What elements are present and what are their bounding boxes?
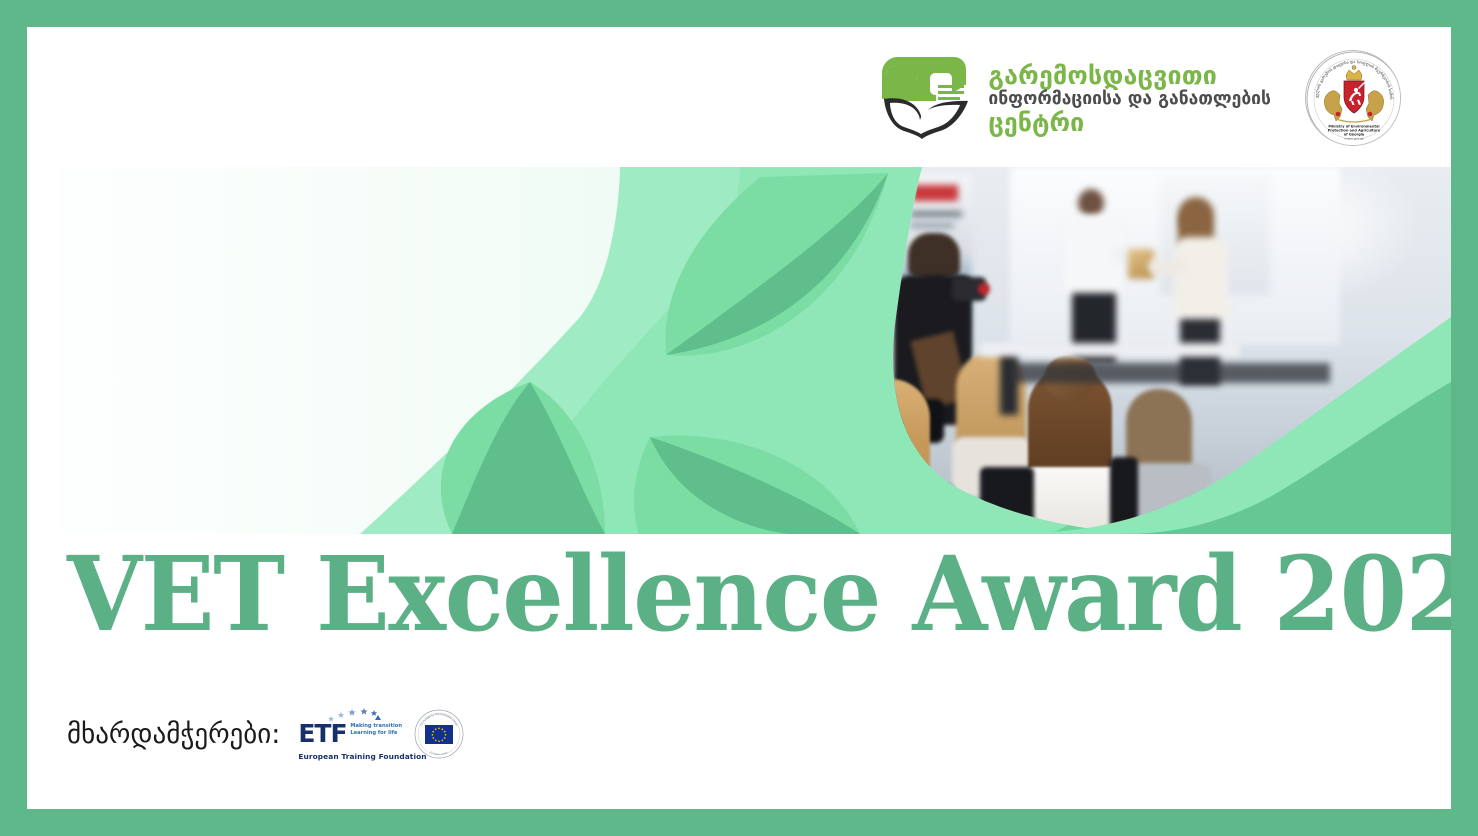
eiec-line3: ცენტრი [988, 110, 1271, 135]
eiec-wordmark: გარემოსდაცვითი ინფორმაციისა და განათლები… [988, 61, 1271, 135]
supporters-label: მხარდამჭერები: [67, 719, 280, 750]
etf-tagline-line2: Learning for life [350, 730, 402, 737]
etf-tagline-line1: Making transition [350, 723, 402, 730]
title-band: VET Excellence Award 2022 [27, 539, 1451, 689]
green-book-leaf-mark-icon [880, 55, 976, 141]
award-ceremony-photo [860, 167, 1451, 534]
poster-card: გარემოსდაცვითი ინფორმაციისა და განათლები… [27, 27, 1451, 809]
etf-wordmark: ETF [298, 721, 346, 746]
header-logo-group: გარემოსდაცვითი ინფორმაციისა და განათლები… [880, 50, 1401, 146]
etf-full-name: European Training Foundation [298, 752, 426, 761]
european-union-flag-circle-icon: Co-funded by the European Union European… [414, 709, 464, 759]
hero-banner [60, 167, 1451, 534]
etf-logo: ETF Making transition Learning for life … [298, 707, 396, 761]
supporters-row: მხარდამჭერები: ETF Making transition [67, 699, 464, 769]
georgia-ministry-coat-of-arms-icon: საქართველოს გარემოს დაცვისა და სოფლის მე… [1305, 50, 1401, 146]
eiec-line2: ინფორმაციისა და განათლების [988, 91, 1271, 109]
eiec-line1: გარემოსდაცვითი [988, 63, 1271, 88]
eiec-logo: გარემოსდაცვითი ინფორმაციისა და განათლები… [880, 55, 1271, 141]
svg-text:mepa.gov.ge: mepa.gov.ge [1344, 137, 1364, 141]
page-title: VET Excellence Award 2022 [67, 539, 1451, 651]
poster-header: გარემოსდაცვითი ინფორმაციისა და განათლები… [27, 27, 1451, 167]
poster-root: გარემოსდაცვითი ინფორმაციისა და განათლები… [0, 0, 1478, 836]
etf-tagline: Making transition Learning for life [350, 723, 402, 736]
hero-photo-clip [860, 167, 1451, 534]
